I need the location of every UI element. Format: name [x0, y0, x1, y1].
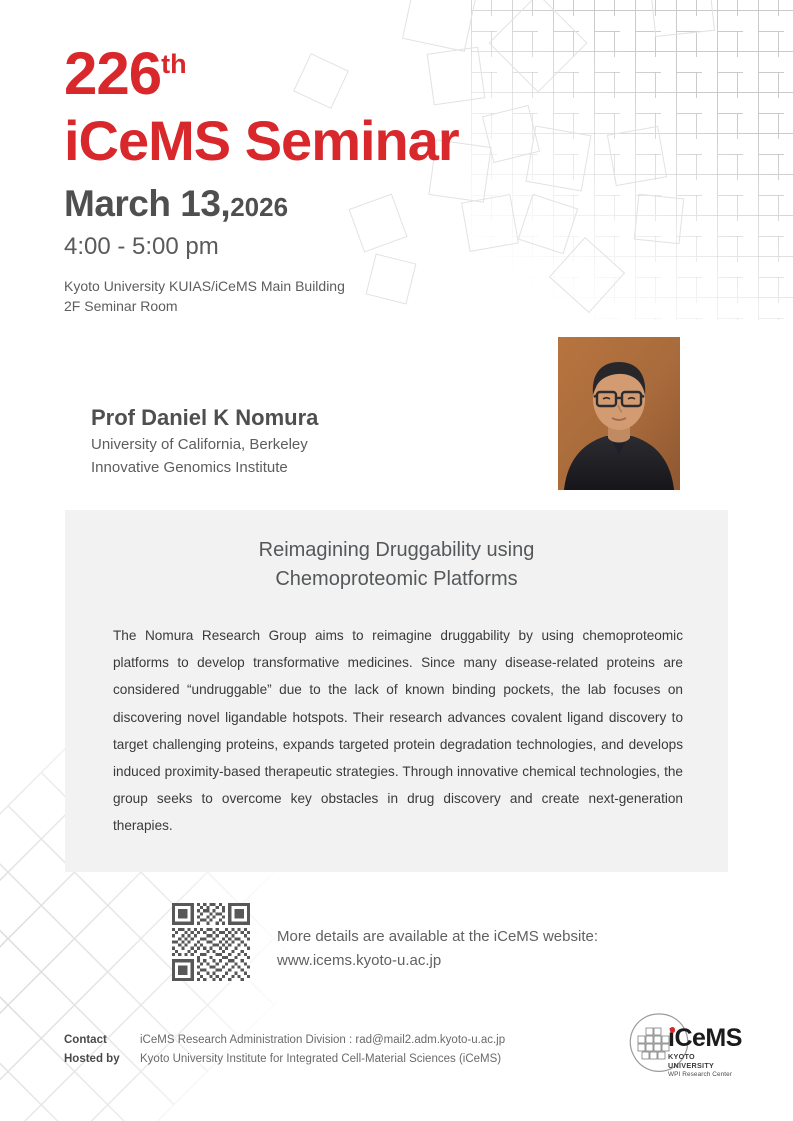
grid-square-pattern-offset — [471, 0, 793, 320]
hosted-by-label: Hosted by — [64, 1051, 132, 1068]
floating-square — [634, 194, 685, 245]
contact-label: Contact — [64, 1032, 132, 1049]
floating-square — [607, 126, 667, 186]
speaker-block: Prof Daniel K Nomura University of Calif… — [91, 405, 318, 479]
qr-code-image[interactable] — [172, 903, 250, 981]
speaker-affiliation-line-2: Innovative Genomics Institute — [91, 457, 318, 480]
floating-square — [461, 194, 519, 252]
speaker-portrait — [558, 337, 680, 490]
contact-value: iCeMS Research Administration Division :… — [140, 1032, 505, 1049]
logo-subtitle-center: WPI Research Center — [668, 1071, 742, 1079]
website-url[interactable]: www.icems.kyoto-u.ac.jp — [277, 949, 598, 973]
footer-contact: Contact iCeMS Research Administration Di… — [64, 1032, 505, 1069]
portrait-illustration — [558, 337, 680, 490]
seminar-date: March 13,2026 — [64, 185, 459, 222]
venue-line-1: Kyoto University KUIAS/iCeMS Main Buildi… — [64, 276, 459, 296]
logo-wordmark: iCeMS — [668, 1026, 742, 1051]
website-prompt: More details are available at the iCeMS … — [277, 925, 598, 949]
series-title: iCeMS Seminar — [64, 112, 459, 171]
icems-logo: iCeMS KYOTO UNIVERSITY WPI Research Cent… — [628, 1012, 738, 1074]
date-month-day: March 13 — [64, 183, 220, 224]
floating-square — [482, 105, 540, 163]
seminar-venue: Kyoto University KUIAS/iCeMS Main Buildi… — [64, 276, 459, 317]
hosted-by-value: Kyoto University Institute for Integrate… — [140, 1051, 505, 1068]
seminar-poster: 226th iCeMS Seminar March 13,2026 4:00 -… — [0, 0, 793, 1121]
floating-square — [649, 0, 715, 37]
floating-square — [489, 0, 588, 92]
logo-wordmark-text: iCeMS — [668, 1024, 742, 1052]
abstract-text: The Nomura Research Group aims to reimag… — [113, 622, 683, 840]
speaker-name: Prof Daniel K Nomura — [91, 405, 318, 431]
floating-square — [549, 237, 625, 313]
issue-number: 226 — [64, 40, 161, 107]
talk-title-line-2: Chemoproteomic Platforms — [65, 565, 728, 594]
qr-code[interactable] — [172, 903, 250, 981]
talk-title-line-1: Reimagining Druggability using — [65, 536, 728, 565]
speaker-affiliation: University of California, Berkeley Innov… — [91, 434, 318, 479]
issue-number-line: 226th — [64, 44, 459, 104]
talk-title: Reimagining Druggability using Chemoprot… — [65, 536, 728, 594]
grid-square-pattern — [471, 0, 793, 320]
abstract-panel: Reimagining Druggability using Chemoprot… — [65, 510, 728, 872]
floating-square — [525, 125, 591, 191]
floating-square — [518, 194, 578, 254]
logo-subtitle-university: KYOTO UNIVERSITY — [668, 1052, 742, 1071]
issue-ordinal-suffix: th — [161, 49, 186, 79]
poster-header: 226th iCeMS Seminar March 13,2026 4:00 -… — [64, 44, 459, 316]
logo-text-block: iCeMS KYOTO UNIVERSITY WPI Research Cent… — [668, 1026, 742, 1079]
seminar-time: 4:00 - 5:00 pm — [64, 235, 459, 259]
venue-line-2: 2F Seminar Room — [64, 296, 459, 316]
website-info: More details are available at the iCeMS … — [277, 925, 598, 973]
date-comma: , — [220, 183, 230, 224]
logo-red-dot — [670, 1027, 676, 1033]
speaker-affiliation-line-1: University of California, Berkeley — [91, 434, 318, 457]
date-year: 2026 — [230, 192, 288, 222]
